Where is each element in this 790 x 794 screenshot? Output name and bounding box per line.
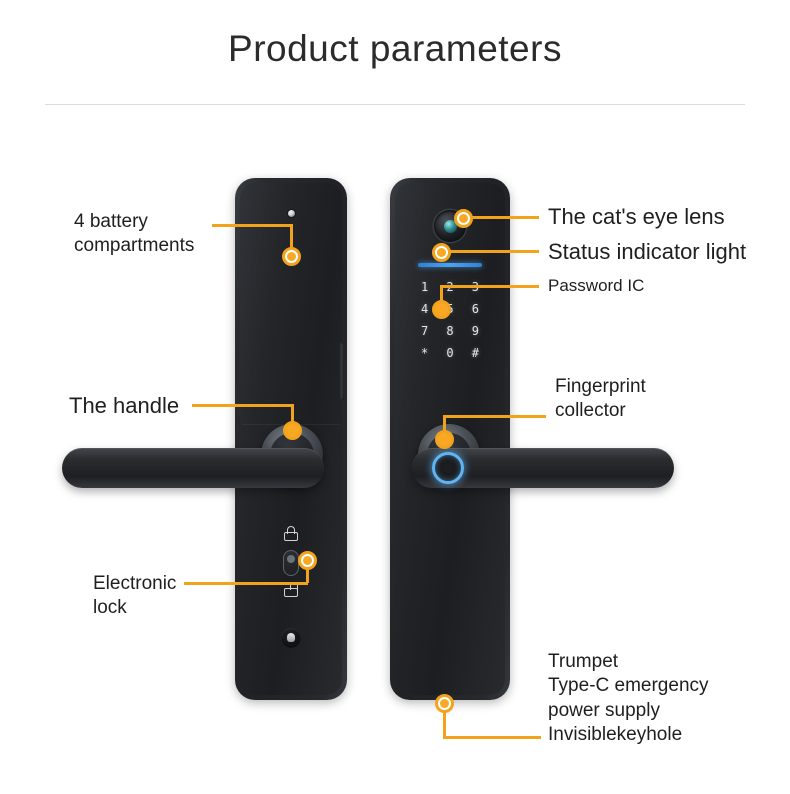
keypad-key[interactable]: * [421,347,428,359]
marker-bottom-ports [435,694,454,713]
leader-line-handle-horizontal [192,404,293,407]
status-indicator-light [418,263,482,267]
keypad-key[interactable]: 9 [472,325,479,337]
marker-handle [283,421,302,440]
label-electronic-lock-line1: Electronic [93,573,176,594]
lock-toggle-switch[interactable] [283,550,299,576]
leader-line-bottom-horizontal [443,736,541,739]
leader-line-battery-horizontal [212,224,292,227]
label-fingerprint-collector: Fingerprintcollector [555,375,646,424]
marker-cat-eye [454,209,473,228]
panel-side-slot [340,342,344,400]
marker-electronic-lock [298,551,317,570]
mechanical-keyhole-icon [281,628,301,648]
product-parameters-page: Product parameters [0,0,790,794]
padlock-body-open [284,588,298,597]
label-battery-line2: compartments [74,235,194,256]
product-illustration: 1 2 3 4 5 6 7 8 9 * 0 # [0,0,790,794]
padlock-locked-icon [284,526,298,541]
marker-fingerprint [435,430,454,449]
keypad-key[interactable]: 6 [472,303,479,315]
label-bottom-ports: TrumpetType-C emergencypower supplyInvis… [548,650,709,747]
marker-password-ic [432,300,451,319]
leader-line-fingerprint-horizontal [443,415,546,418]
label-electronic-lock: Electroniclock [93,572,176,621]
keypad-key[interactable]: 4 [421,303,428,315]
marker-status-light [432,243,451,262]
keypad-key[interactable]: 8 [446,325,453,337]
label-electronic-lock-line2: lock [93,597,127,618]
label-bottom-line2: Type-C emergency [548,675,709,696]
label-bottom-line1: Trumpet [548,651,618,672]
label-bottom-line3: power supply [548,700,660,721]
label-cat-eye-lens: The cat's eye lens [548,203,725,231]
label-bottom-line4: Invisiblekeyhole [548,724,682,745]
leader-line-cat-eye [463,216,539,219]
label-handle: The handle [69,392,179,420]
label-fingerprint-line1: Fingerprint [555,376,646,397]
keypad-key[interactable]: 7 [421,325,428,337]
leader-line-password-ic-horizontal [440,285,539,288]
password-keypad[interactable]: 1 2 3 4 5 6 7 8 9 * 0 # [412,276,488,364]
label-status-indicator-light: Status indicator light [548,238,746,266]
keypad-key[interactable]: 1 [421,281,428,293]
label-battery-line1: 4 battery [74,211,148,232]
marker-battery [282,247,301,266]
leader-line-status-light [441,250,539,253]
label-fingerprint-line2: collector [555,400,626,421]
leader-line-electronic-lock-horizontal [184,582,308,585]
keypad-key[interactable]: # [472,347,479,359]
label-battery-compartments: 4 batterycompartments [74,210,194,259]
padlock-body [284,532,298,541]
label-password-ic: Password IC [548,275,644,297]
pinhole-icon [288,210,295,217]
keypad-key[interactable]: 0 [446,347,453,359]
